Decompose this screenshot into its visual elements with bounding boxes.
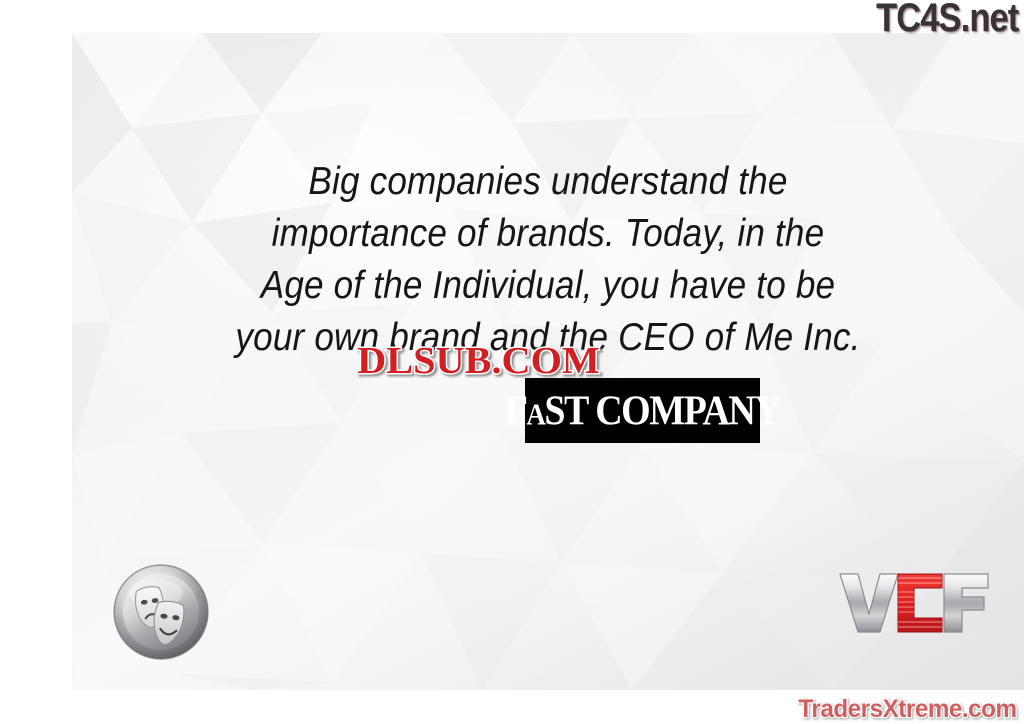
quote-block: Big companies understand the importance … [72,156,1024,364]
fc-letters-mpany: MPANY [649,387,780,434]
quote-line-2: importance of brands. Today, in the [120,208,977,260]
vcf-letter-f [944,574,988,632]
fast-company-logo: FAST COMPANY [525,378,760,443]
theatre-masks-icon [112,563,210,661]
slide-canvas: Big companies understand the importance … [72,33,1024,690]
vcf-letter-v [840,574,898,632]
fc-letter-f: F [505,387,527,434]
tc4s-brand-logo: TC4S.net [876,0,1018,38]
tradersxtreme-watermark: TradersXtreme.com [798,697,1016,722]
vcf-logo [836,566,996,638]
fc-letter-o: O [621,387,649,434]
quote-line-3: Age of the Individual, you have to be [120,260,977,312]
fc-letters-st-c: ST C [544,387,621,434]
dlsub-watermark: DLSUB.COM [357,342,600,380]
fast-company-wordmark: FAST COMPANY [505,389,781,432]
fc-letter-a-small: A [526,397,544,431]
vcf-letter-c [898,574,942,632]
quote-line-1: Big companies understand the [120,156,977,208]
